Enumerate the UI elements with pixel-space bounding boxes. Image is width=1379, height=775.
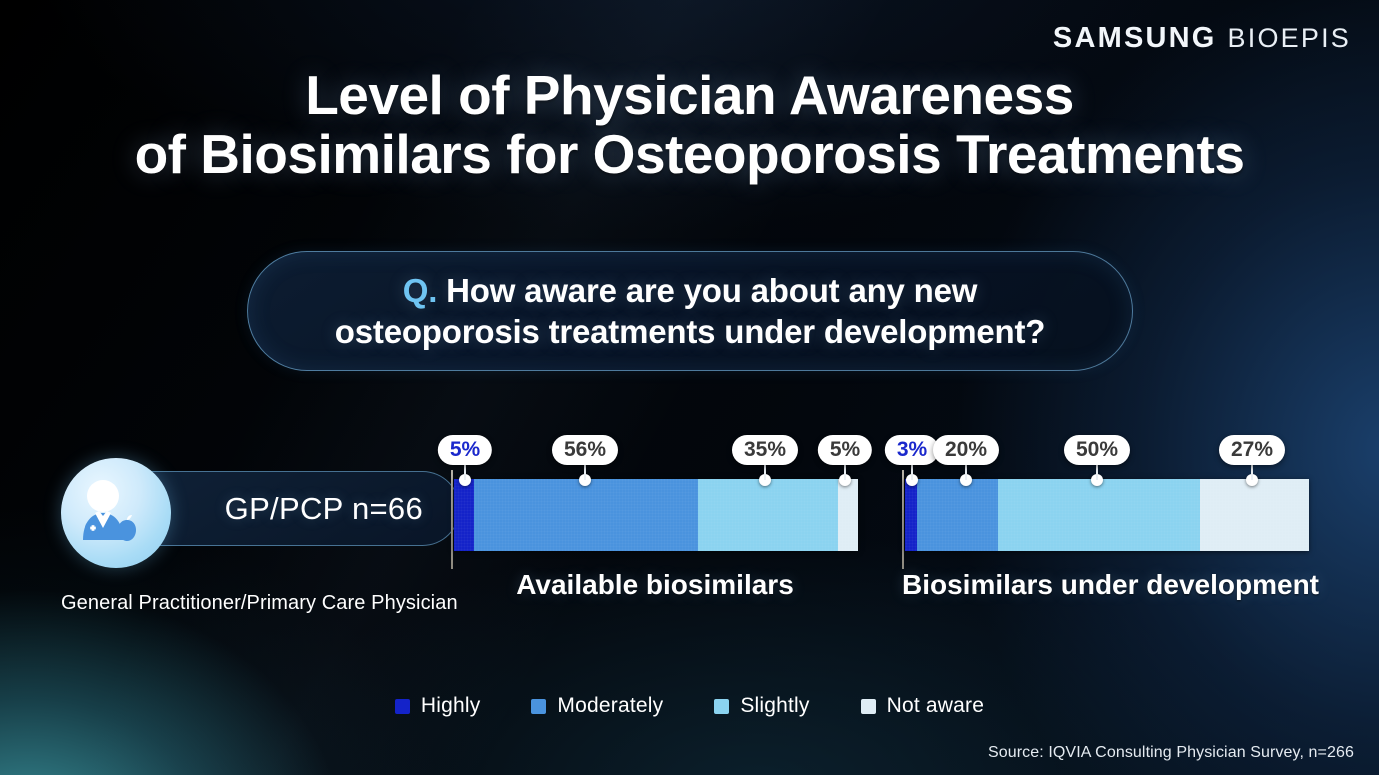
bar-segment-moderately[interactable] [917,479,998,551]
respondent-pill-label: GP/PCP n=66 [225,491,423,527]
legend-swatch-icon [861,699,876,714]
bar-segment-moderately[interactable] [474,479,698,551]
value-label-moderately: 56% [552,435,618,465]
legend-item-slightly[interactable]: Slightly [714,694,809,718]
page-title-line1: Level of Physician Awareness [305,64,1074,126]
legend-label: Highly [421,694,481,718]
bar-group: 3%20%50%27%Biosimilars under development [902,470,1310,605]
value-label-not-aware: 27% [1219,435,1285,465]
legend-label: Slightly [740,694,809,718]
bar-group: 5%56%35%5%Available biosimilars [451,470,859,605]
bar-axis-line [902,470,904,569]
bar-group-label: Biosimilars under development [902,569,1310,601]
legend-item-highly[interactable]: Highly [395,694,481,718]
legend-swatch-icon [395,699,410,714]
page-title-line2: of Biosimilars for Osteoporosis Treatmen… [0,125,1379,184]
samsung-bioepis-logo: SAMSUNG BIOEPIS [1053,22,1351,55]
bar-segment-highly[interactable] [454,479,474,551]
bar-segment-slightly[interactable] [998,479,1200,551]
question-line1: How aware are you about any new [437,272,977,309]
stacked-bar[interactable] [905,479,1309,551]
value-label-moderately: 20% [933,435,999,465]
value-label-slightly: 35% [732,435,798,465]
value-label-highly: 5% [438,435,492,465]
value-label-slightly: 50% [1064,435,1130,465]
doctor-avatar-icon [61,458,171,568]
legend-item-not-aware[interactable]: Not aware [861,694,985,718]
bar-axis-line [451,470,453,569]
respondent-caption: General Practitioner/Primary Care Physic… [61,592,458,615]
bar-segment-not-aware[interactable] [838,479,858,551]
infographic-canvas: SAMSUNG BIOEPIS Level of Physician Aware… [0,0,1379,775]
stacked-bar[interactable] [454,479,858,551]
chart-legend: HighlyModeratelySlightlyNot aware [0,694,1379,718]
question-line2: osteoporosis treatments under developmen… [335,313,1045,350]
bar-group-label: Available biosimilars [451,569,859,601]
source-note: Source: IQVIA Consulting Physician Surve… [988,744,1354,762]
legend-item-moderately[interactable]: Moderately [531,694,663,718]
logo-samsung-text: SAMSUNG [1053,22,1217,55]
question-marker: Q. [403,272,437,309]
bar-segment-slightly[interactable] [698,479,838,551]
value-label-not-aware: 5% [818,435,872,465]
legend-label: Not aware [887,694,985,718]
page-title: Level of Physician Awareness of Biosimil… [0,66,1379,185]
bar-segment-not-aware[interactable] [1200,479,1309,551]
legend-swatch-icon [714,699,729,714]
legend-swatch-icon [531,699,546,714]
value-label-highly: 3% [885,435,939,465]
question-callout-box: Q. How aware are you about any new osteo… [247,251,1133,371]
question-text: Q. How aware are you about any new osteo… [301,270,1079,353]
bar-segment-highly[interactable] [905,479,917,551]
legend-label: Moderately [557,694,663,718]
logo-bioepis-text: BIOEPIS [1228,23,1351,54]
